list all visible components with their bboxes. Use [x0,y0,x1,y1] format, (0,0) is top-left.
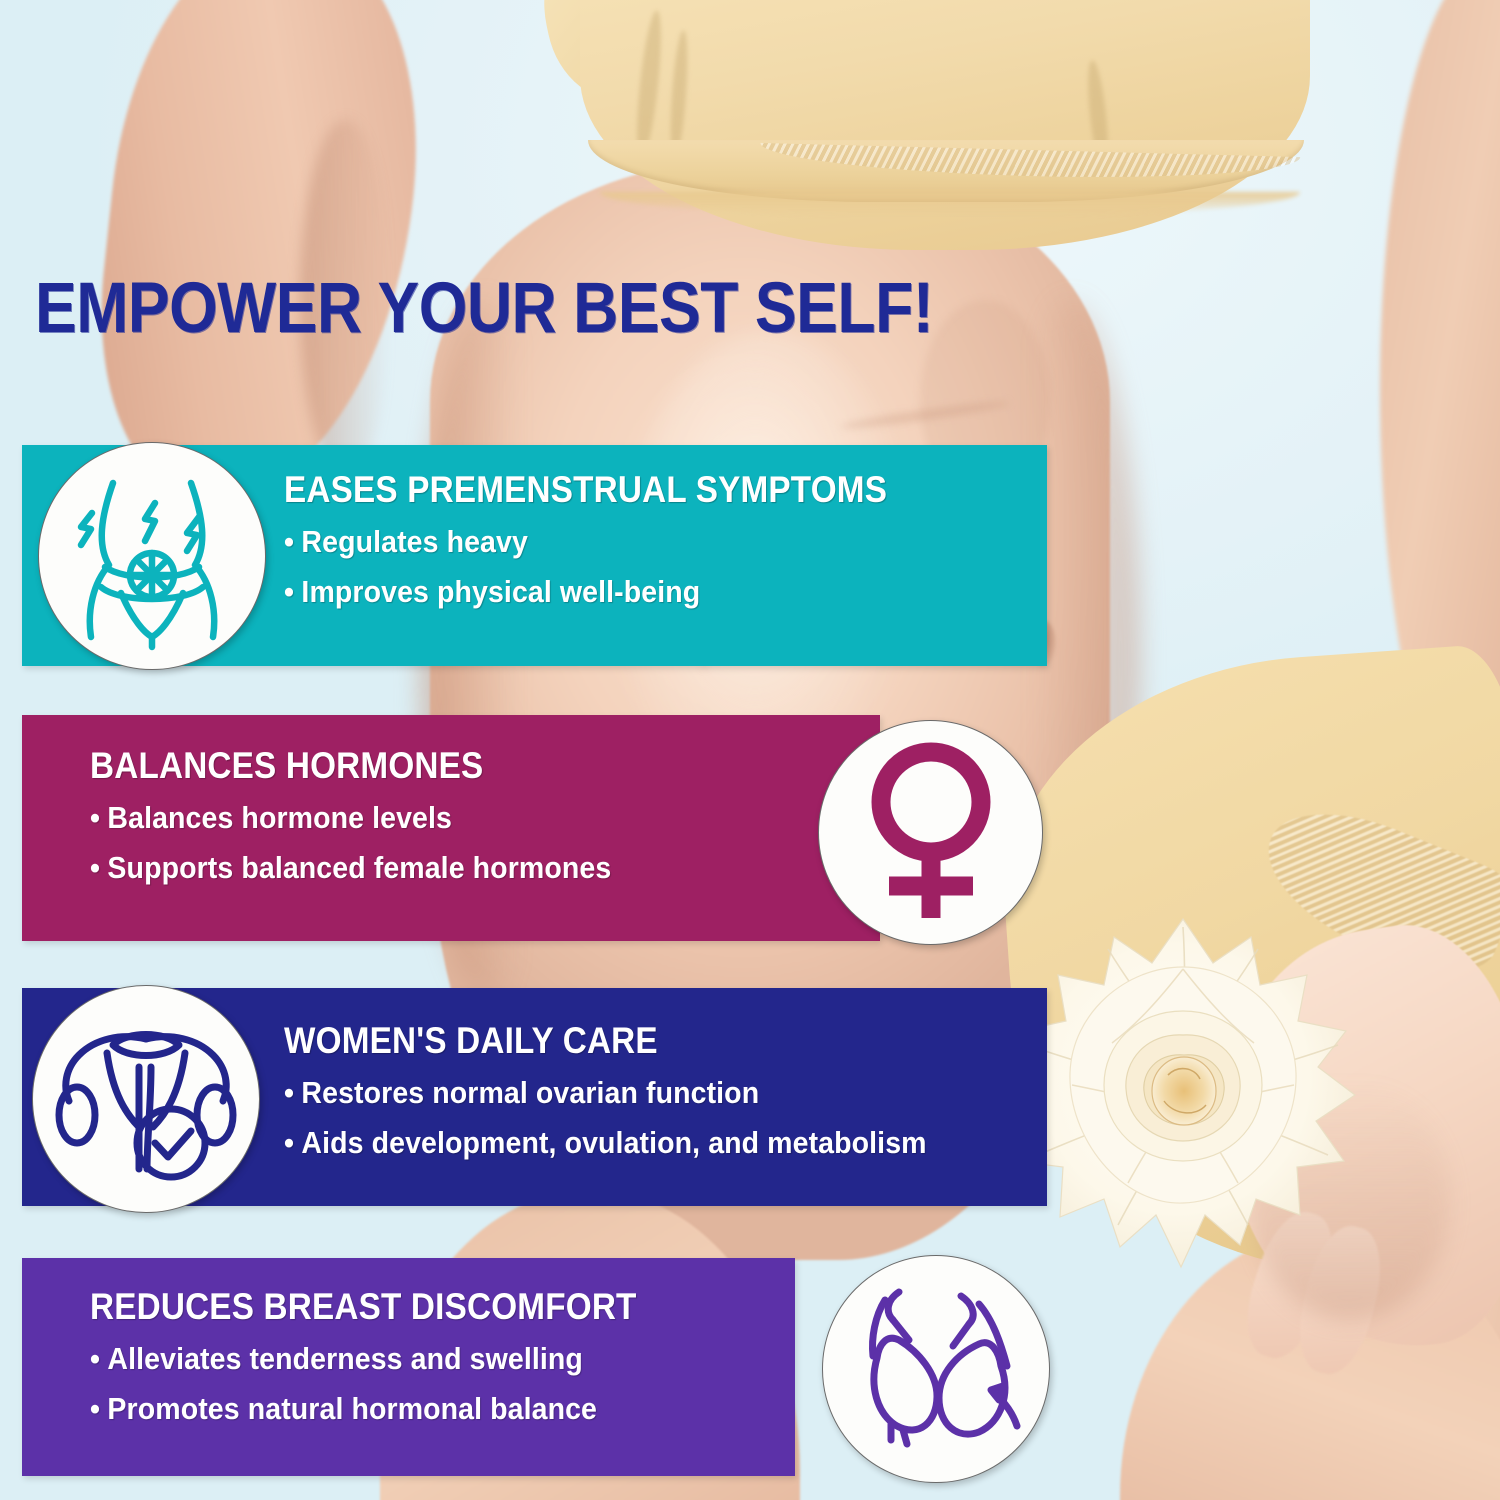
bullet-marker: • [90,1391,100,1426]
bra-breast-icon [841,1274,1031,1464]
uterus-check-icon-bubble [32,985,260,1213]
bullet-marker: • [90,1341,100,1376]
benefit-text-block: BALANCES HORMONES •Balances hormone leve… [90,745,657,893]
page-title: EMPOWER YOUR BEST SELF! [35,268,933,349]
benefit-bullet-list: •Regulates heavy •Improves physical well… [284,517,954,617]
benefit-bullet: •Aids development, ovulation, and metabo… [284,1118,927,1168]
bullet-marker: • [90,850,100,885]
bullet-text: Aids development, ovulation, and metabol… [301,1125,926,1160]
bullet-marker: • [284,1075,294,1110]
bra-breast-icon-bubble [822,1255,1050,1483]
bullet-marker: • [284,1125,294,1160]
benefit-bullet: •Restores normal ovarian function [284,1068,927,1118]
benefit-bullet: •Promotes natural hormonal balance [90,1384,649,1434]
benefit-banner-balances-hormones: BALANCES HORMONES •Balances hormone leve… [22,715,880,941]
benefit-title: REDUCES BREAST DISCOMFORT [90,1286,637,1328]
benefit-title: WOMEN'S DAILY CARE [284,1020,913,1062]
infographic-stage: EMPOWER YOUR BEST SELF! EASES PREMENSTRU… [0,0,1500,1500]
cramping-abdomen-icon-bubble [38,442,266,670]
bullet-marker: • [284,524,294,559]
benefit-bullet-list: •Alleviates tenderness and swelling •Pro… [90,1334,697,1434]
benefit-bullet: •Alleviates tenderness and swelling [90,1334,649,1384]
benefit-bullet: •Regulates heavy [284,517,901,567]
benefit-bullet-list: •Restores normal ovarian function •Aids … [284,1068,982,1168]
bullet-text: Promotes natural hormonal balance [107,1391,597,1426]
benefit-title: BALANCES HORMONES [90,745,600,787]
benefit-text-block: EASES PREMENSTRUAL SYMPTOMS •Regulates h… [284,469,954,617]
bullet-text: Supports balanced female hormones [107,850,611,885]
benefit-text-block: REDUCES BREAST DISCOMFORT •Alleviates te… [90,1286,697,1434]
bullet-marker: • [284,574,294,609]
female-venus-symbol-icon-bubble [818,720,1043,945]
benefit-banner-reduces-breast-discomfort: REDUCES BREAST DISCOMFORT •Alleviates te… [22,1258,795,1476]
benefit-bullet: •Improves physical well-being [284,567,901,617]
benefit-bullet-list: •Balances hormone levels •Supports balan… [90,793,657,893]
benefit-bullet: •Balances hormone levels [90,793,611,843]
benefit-bullet: •Supports balanced female hormones [90,843,611,893]
bullet-text: Alleviates tenderness and swelling [107,1341,582,1376]
benefit-text-block: WOMEN'S DAILY CARE •Restores normal ovar… [284,1020,982,1168]
cramping-abdomen-icon [57,461,247,651]
bullet-text: Balances hormone levels [107,800,452,835]
uterus-check-icon [51,1009,241,1189]
bullet-text: Restores normal ovarian function [301,1075,759,1110]
bullet-marker: • [90,800,100,835]
cream-rose [1008,915,1358,1275]
bullet-text: Regulates heavy [301,524,527,559]
benefit-title: EASES PREMENSTRUAL SYMPTOMS [284,469,887,511]
female-venus-symbol-icon [851,740,1011,926]
bullet-text: Improves physical well-being [301,574,700,609]
